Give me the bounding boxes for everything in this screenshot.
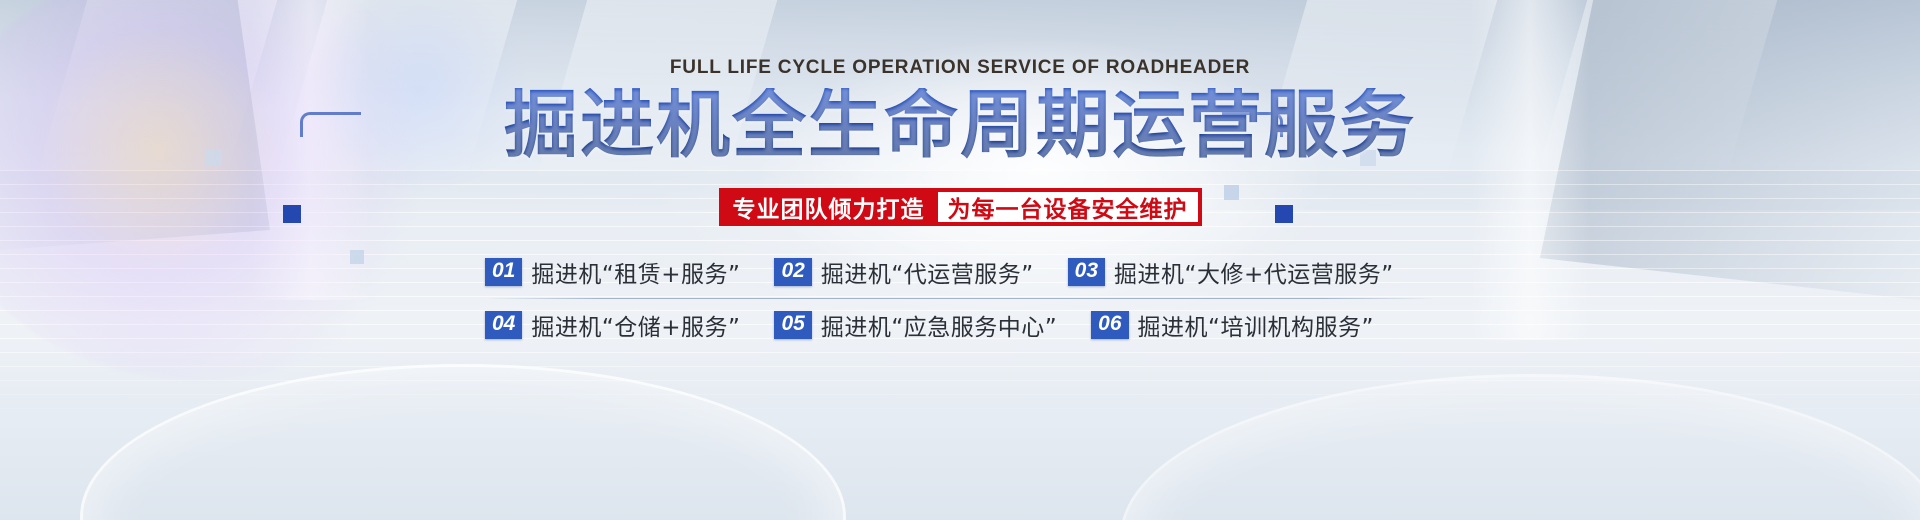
slogan-row: 专业团队倾力打造 为每一台设备安全维护 (0, 188, 1920, 226)
service-row-1: 01 掘进机“租赁+服务” 02 掘进机“代运营服务” 03 掘进机“大修+代运… (485, 246, 1435, 298)
slogan-secondary: 为每一台设备安全维护 (938, 192, 1198, 222)
service-number: 05 (774, 311, 811, 338)
service-label: 掘进机“租赁+服务” (531, 255, 740, 289)
service-item-02[interactable]: 02 掘进机“代运营服务” (774, 255, 1033, 289)
service-label: 掘进机“应急服务中心” (821, 308, 1057, 342)
slogan-badge: 专业团队倾力打造 为每一台设备安全维护 (719, 188, 1202, 226)
service-item-05[interactable]: 05 掘进机“应急服务中心” (774, 308, 1057, 342)
service-number: 03 (1068, 258, 1105, 285)
service-item-04[interactable]: 04 掘进机“仓储+服务” (485, 308, 740, 342)
service-number: 04 (485, 311, 522, 338)
service-row-2: 04 掘进机“仓储+服务” 05 掘进机“应急服务中心” 06 掘进机“培训机构… (485, 299, 1435, 351)
page-title: 掘进机全生命周期运营服务 (0, 88, 1920, 162)
service-label: 掘进机“代运营服务” (821, 255, 1034, 289)
banner-content: FULL LIFE CYCLE OPERATION SERVICE OF ROA… (0, 0, 1920, 520)
service-label: 掘进机“仓储+服务” (531, 308, 740, 342)
service-item-06[interactable]: 06 掘进机“培训机构服务” (1091, 308, 1374, 342)
service-number: 06 (1091, 311, 1128, 338)
service-label: 掘进机“培训机构服务” (1138, 308, 1374, 342)
service-number: 01 (485, 258, 522, 285)
service-label: 掘进机“大修+代运营服务” (1114, 255, 1394, 289)
service-list: 01 掘进机“租赁+服务” 02 掘进机“代运营服务” 03 掘进机“大修+代运… (485, 246, 1435, 351)
promo-banner: FULL LIFE CYCLE OPERATION SERVICE OF ROA… (0, 0, 1920, 520)
english-subtitle: FULL LIFE CYCLE OPERATION SERVICE OF ROA… (0, 57, 1920, 79)
service-item-03[interactable]: 03 掘进机“大修+代运营服务” (1068, 255, 1394, 289)
service-number: 02 (774, 258, 811, 285)
service-item-01[interactable]: 01 掘进机“租赁+服务” (485, 255, 740, 289)
slogan-primary: 专业团队倾力打造 (721, 190, 937, 224)
